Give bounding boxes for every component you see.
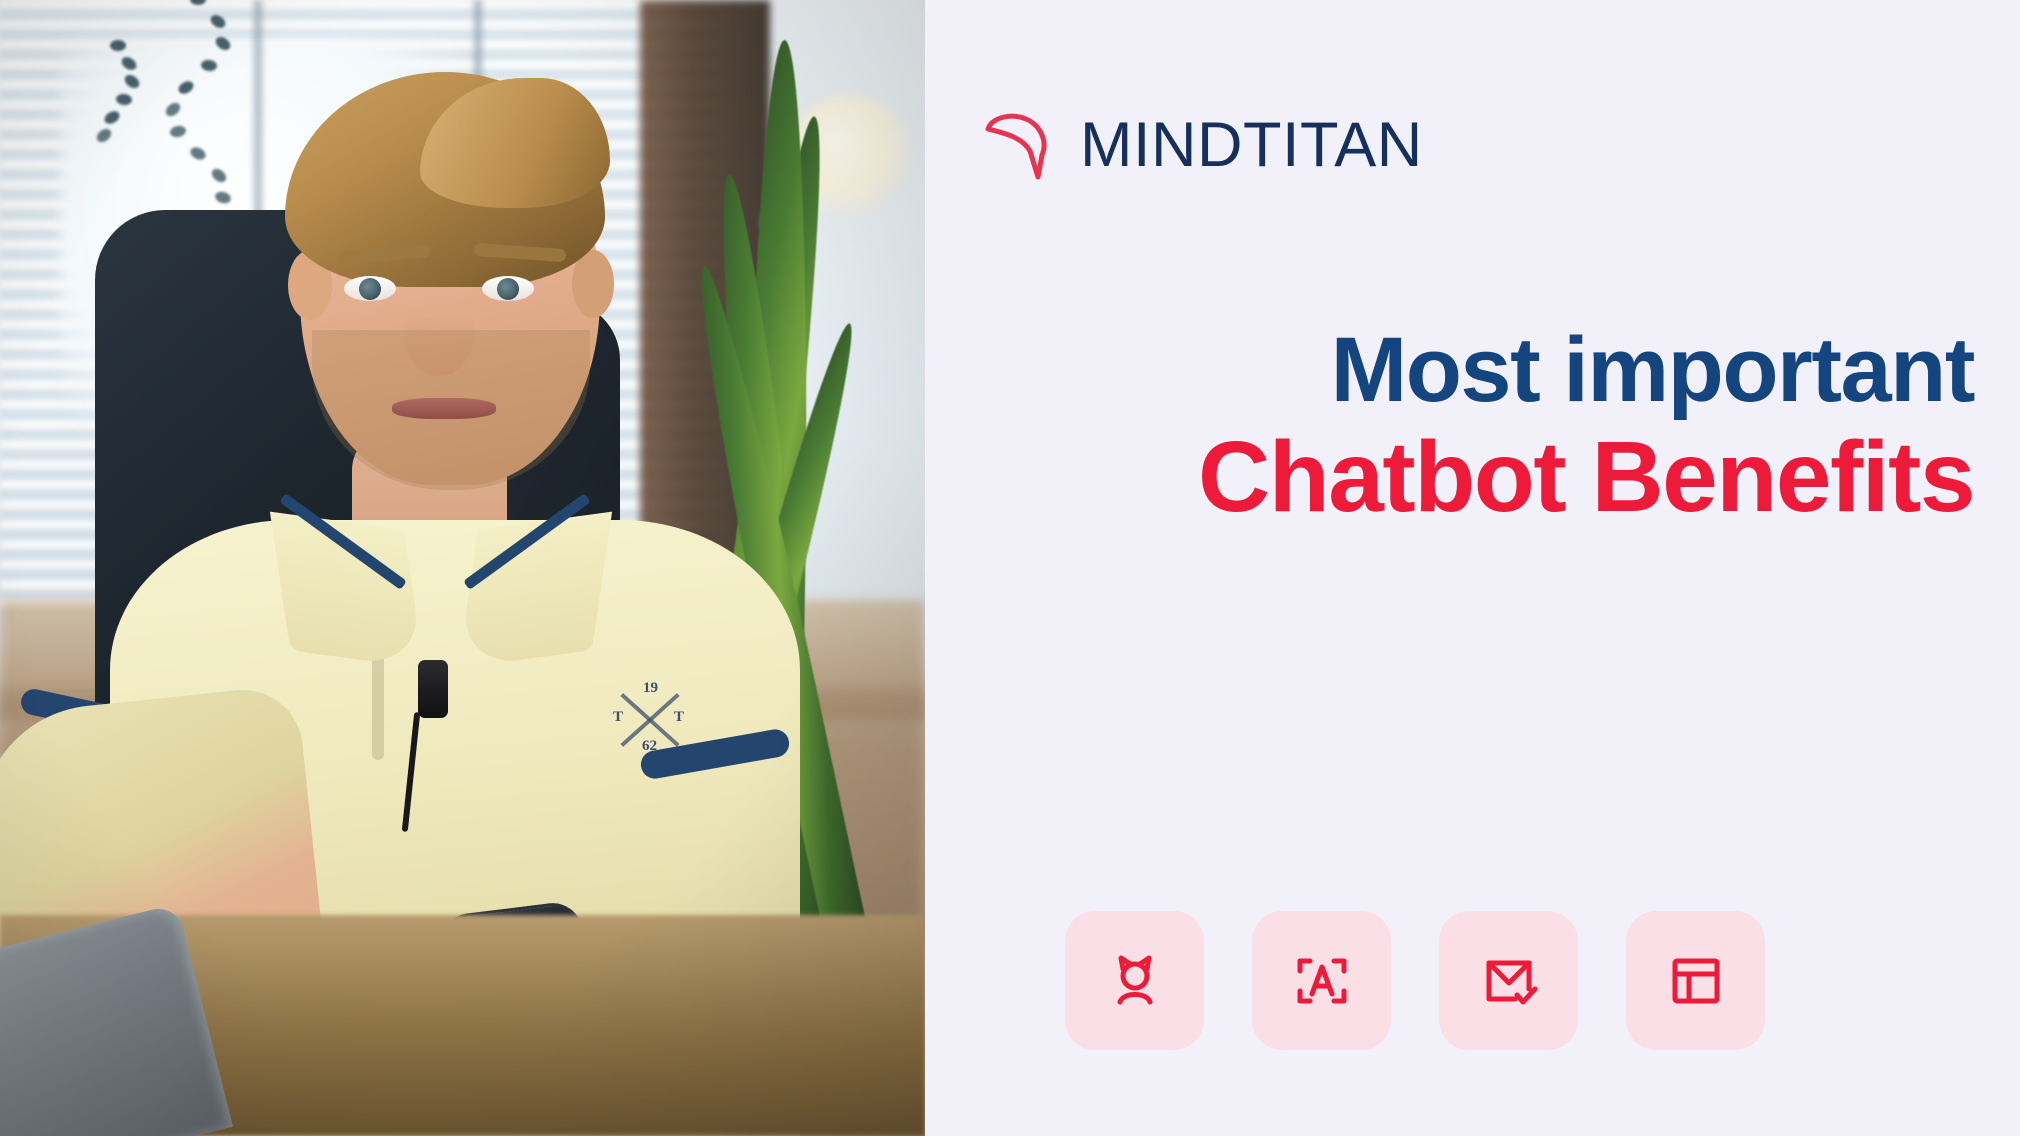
envelope-check-icon (1477, 949, 1541, 1013)
badge-right-text: T (674, 709, 684, 726)
brand-logo[interactable]: MINDTITAN (982, 107, 1423, 183)
title-line-2: Chatbot Benefits (982, 424, 1974, 530)
slide-title: Most important Chatbot Benefits (982, 322, 1974, 530)
icon-tile-devil-user[interactable] (1065, 911, 1204, 1050)
brand-name: MINDTITAN (1080, 114, 1423, 177)
nose (404, 290, 474, 376)
speaker-video-panel: 19 T T 62 (0, 0, 925, 1136)
icon-tile-dashboard-layout[interactable] (1626, 911, 1765, 1050)
badge-top-text: 19 (643, 680, 658, 697)
icon-tile-envelope-check[interactable] (1439, 911, 1578, 1050)
eye-right (482, 276, 534, 301)
eye-left (344, 276, 396, 301)
feature-icon-row (1065, 911, 1765, 1050)
mouth (392, 398, 496, 419)
lapel-microphone (418, 660, 448, 718)
badge-bottom-text: 62 (642, 738, 657, 755)
brand-name-part1: MIND (1080, 110, 1243, 180)
shirt-collar-left (270, 512, 424, 669)
shirt-chest-badge: 19 T T 62 (612, 682, 688, 758)
badge-left-text: T (613, 709, 623, 726)
content-panel: MINDTITAN Most important Chatbot Benefit… (925, 0, 2020, 1136)
text-scan-a-icon (1290, 949, 1354, 1013)
icon-tile-text-scan[interactable] (1252, 911, 1391, 1050)
devil-user-icon (1103, 949, 1167, 1013)
mindtitan-swoosh-logo-icon (982, 107, 1058, 183)
brand-name-part2: TITAN (1243, 110, 1423, 180)
dashboard-layout-icon (1664, 949, 1728, 1013)
presentation-slide: 19 T T 62 MINDTITAN (0, 0, 2020, 1136)
title-line-1: Most important (982, 322, 1974, 420)
